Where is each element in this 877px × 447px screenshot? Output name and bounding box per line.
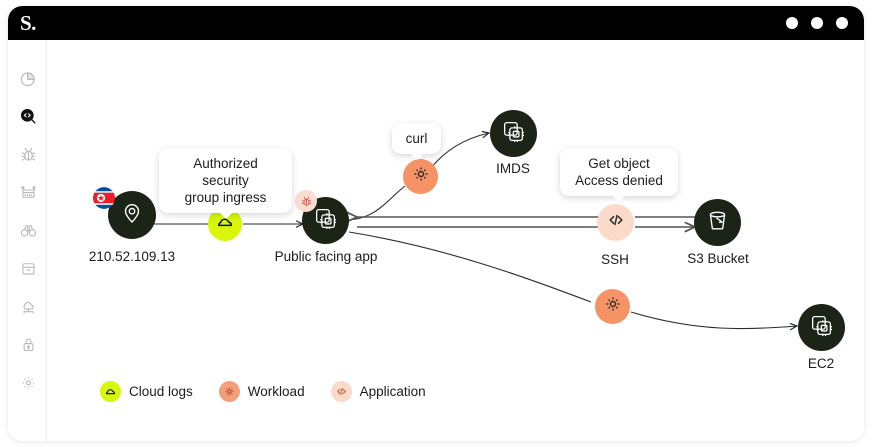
bug-alert-icon <box>295 190 317 212</box>
north-korea-flag-icon <box>93 187 115 209</box>
sidebar <box>8 40 47 441</box>
bucket-icon <box>705 208 730 238</box>
archive-box-icon <box>19 259 38 278</box>
code-icon <box>606 210 626 235</box>
graph-node-label-ec2: EC2 <box>781 356 861 372</box>
legend-item-application[interactable]: Application <box>331 381 426 402</box>
minimize-button[interactable] <box>786 17 798 29</box>
tooltip-curl: curl <box>392 123 441 154</box>
graph-node-ec2-workload[interactable] <box>595 289 630 324</box>
location-pin-icon <box>120 201 144 230</box>
maximize-button[interactable] <box>811 17 823 29</box>
tooltip-get-object-access-denied: Get object Access denied <box>560 148 678 196</box>
legend: Cloud logs Workload <box>100 381 426 402</box>
pie-chart-icon <box>19 69 38 88</box>
sidebar-item-security[interactable] <box>17 333 39 355</box>
gear-icon <box>19 373 38 392</box>
sidebar-item-data[interactable] <box>17 257 39 279</box>
chip-icon <box>313 206 338 236</box>
graph-node-label-ssh: SSH <box>575 252 655 268</box>
graph-node-label-imds: IMDS <box>463 161 563 177</box>
sidebar-item-cloud[interactable] <box>17 295 39 317</box>
cloud-network-icon <box>19 297 38 316</box>
threat-hunt-icon <box>19 107 38 126</box>
sidebar-item-inventory[interactable] <box>17 181 39 203</box>
tooltip-authorized-ingress: Authorized security group ingress <box>159 148 292 213</box>
graph-node-source-ip[interactable] <box>108 191 156 239</box>
cloud-icon <box>100 381 121 402</box>
code-icon <box>331 381 352 402</box>
legend-label-workload: Workload <box>248 384 305 399</box>
graph-canvas: 210.52.109.13 <box>47 40 864 441</box>
sidebar-item-vulnerabilities[interactable] <box>17 143 39 165</box>
toolbox-icon <box>19 183 38 202</box>
lock-icon <box>19 335 38 354</box>
app-logo: S. <box>20 11 36 35</box>
sidebar-item-settings[interactable] <box>17 371 39 393</box>
gear-icon <box>411 164 431 189</box>
bug-icon <box>19 145 38 164</box>
chip-icon <box>501 119 526 149</box>
graph-node-label-public-facing-app: Public facing app <box>247 249 405 265</box>
legend-item-cloud-logs[interactable]: Cloud logs <box>100 381 193 402</box>
gear-icon <box>219 381 240 402</box>
app-root: S. <box>0 0 877 447</box>
legend-label-cloud-logs: Cloud logs <box>129 384 193 399</box>
sidebar-item-monitoring[interactable] <box>17 219 39 241</box>
graph-node-s3-bucket[interactable] <box>694 199 741 246</box>
close-button[interactable] <box>836 17 848 29</box>
sidebar-item-investigate[interactable] <box>17 105 39 127</box>
binoculars-icon <box>19 221 38 240</box>
app-window: S. <box>8 6 864 441</box>
gear-icon <box>603 294 623 319</box>
graph-node-ssh[interactable] <box>597 204 634 241</box>
sidebar-item-dashboard[interactable] <box>17 67 39 89</box>
chip-icon <box>809 313 834 343</box>
graph-node-curl-workload[interactable] <box>403 159 438 194</box>
legend-item-workload[interactable]: Workload <box>219 381 305 402</box>
graph-node-label-s3-bucket: S3 Bucket <box>664 251 772 267</box>
graph-node-label-source-ip: 210.52.109.13 <box>61 249 203 265</box>
graph-node-imds[interactable] <box>490 110 537 157</box>
legend-label-application: Application <box>360 384 426 399</box>
graph-node-ec2[interactable] <box>798 304 845 351</box>
window-controls <box>786 17 848 29</box>
title-bar: S. <box>8 6 864 40</box>
